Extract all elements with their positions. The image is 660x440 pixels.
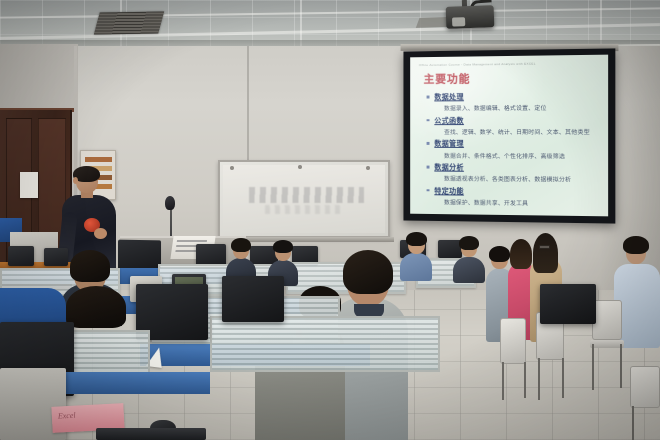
chair-back bbox=[592, 300, 622, 340]
slide-section-heading: 数据处理 bbox=[426, 91, 604, 102]
slide-section-detail: 数据保护、数据共享、开发工具 bbox=[426, 197, 604, 208]
student-hair bbox=[66, 286, 126, 328]
whiteboard-surface bbox=[223, 165, 385, 233]
wall-decor-stripe bbox=[85, 157, 112, 162]
presenter-laptop bbox=[118, 240, 161, 271]
presenter-hand bbox=[94, 228, 107, 239]
slide-section-detail: 查找、逻辑、数学、统计、日期时间、文本、其他类型 bbox=[426, 127, 604, 136]
chair-leg bbox=[562, 358, 564, 398]
chair-leg bbox=[632, 406, 634, 440]
slide-section: 数据管理 数据合并、条件格式、个性化排序、高级筛选 bbox=[426, 139, 604, 160]
student-head-foreground bbox=[66, 286, 126, 330]
whiteboard-clip bbox=[230, 166, 234, 170]
whiteboard-clip bbox=[366, 166, 370, 170]
chair-seat bbox=[590, 340, 624, 348]
chair-leg bbox=[620, 344, 622, 388]
chair-leg bbox=[538, 358, 540, 400]
desk-divider-panel bbox=[210, 316, 440, 372]
slide-section: 公式函数 查找、逻辑、数学、统计、日期时间、文本、其他类型 bbox=[426, 115, 604, 136]
whiteboard bbox=[218, 160, 390, 238]
monitor bbox=[8, 246, 34, 266]
keyboard[interactable] bbox=[96, 428, 206, 440]
slide-section: 特定功能 数据保护、数据共享、开发工具 bbox=[426, 186, 604, 208]
slide-section-heading: 数据分析 bbox=[426, 163, 604, 174]
whiteboard-clip bbox=[298, 165, 302, 169]
projection-screen: Office Automation Course - Data Manageme… bbox=[403, 48, 615, 223]
slide-section-heading: 特定功能 bbox=[426, 186, 604, 198]
classroom-photo: Office Automation Course - Data Manageme… bbox=[0, 0, 660, 440]
student-hair bbox=[406, 232, 427, 246]
student-dark-right bbox=[453, 236, 485, 282]
slide-section-detail: 数据透视表分析、各类图表分析、数据模拟分析 bbox=[426, 174, 604, 184]
ceiling-projector bbox=[446, 5, 495, 29]
chair-leg bbox=[502, 362, 504, 400]
student-hair bbox=[489, 246, 510, 262]
microphone-on-stand bbox=[165, 196, 175, 210]
student-hair bbox=[459, 236, 479, 250]
desk-sticker-text: Excel bbox=[58, 411, 76, 421]
student-hair bbox=[343, 250, 393, 294]
slide-section-detail: 数据合并、条件格式、个性化排序、高级筛选 bbox=[426, 150, 604, 160]
paper-text-line bbox=[177, 240, 207, 242]
student-hair bbox=[231, 238, 251, 252]
slide-section-heading: 数据管理 bbox=[426, 139, 604, 149]
slide-section-detail: 数据录入、数据编辑、格式设置、定位 bbox=[426, 103, 604, 113]
projector-lens-icon bbox=[452, 17, 465, 26]
whiteboard-erased-writing bbox=[249, 187, 364, 203]
eyeglasses-icon bbox=[539, 245, 550, 249]
chair-back bbox=[630, 366, 660, 408]
wall-seam bbox=[247, 46, 249, 176]
ceiling-air-vent bbox=[94, 11, 164, 34]
slide-title: 主要功能 bbox=[424, 70, 471, 86]
student-hair bbox=[273, 240, 293, 253]
slide-section-heading: 公式函数 bbox=[426, 115, 604, 125]
projected-slide: Office Automation Course - Data Manageme… bbox=[410, 55, 608, 217]
monitor bbox=[222, 276, 284, 322]
slide-section: 数据处理 数据录入、数据编辑、格式设置、定位 bbox=[426, 91, 604, 112]
student-hair bbox=[623, 236, 649, 254]
student-torso bbox=[453, 257, 485, 283]
slide-section: 数据分析 数据透视表分析、各类图表分析、数据模拟分析 bbox=[426, 163, 604, 184]
monitor bbox=[540, 284, 596, 324]
chair-leg bbox=[524, 362, 526, 398]
chair-back bbox=[500, 318, 526, 364]
whiteboard-erased-writing bbox=[265, 205, 345, 214]
slide-body: 数据处理 数据录入、数据编辑、格式设置、定位 公式函数 查找、逻辑、数学、统计、… bbox=[426, 91, 604, 211]
presenter-ear bbox=[73, 177, 78, 184]
student-hair bbox=[510, 239, 532, 269]
student-hair bbox=[70, 250, 110, 282]
student-hair bbox=[533, 233, 558, 273]
chair-leg bbox=[592, 344, 594, 390]
posted-notice-paper bbox=[20, 172, 38, 198]
monitor bbox=[196, 244, 226, 266]
